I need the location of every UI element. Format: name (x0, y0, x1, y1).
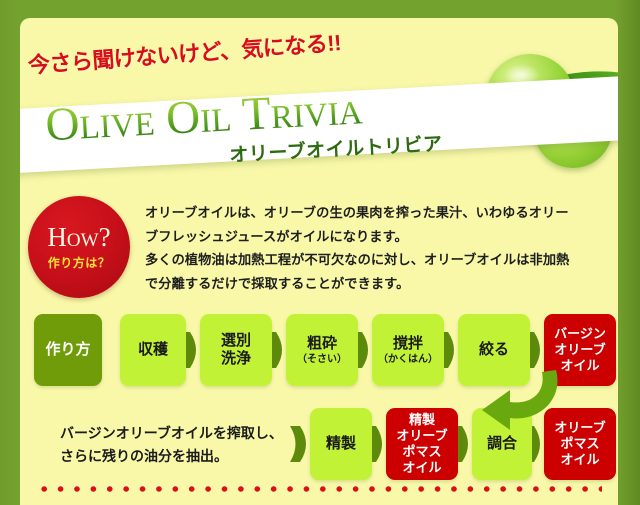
flow-node: 選別洗浄 (200, 314, 272, 386)
body-line: ブフレッシュジュースがオイルになります。 (145, 225, 615, 249)
flow-node-label: 精製オリーブポマスオイル (396, 412, 447, 475)
body-line: オリーブオイルは、オリーブの生の果肉を搾った果汁、いわゆるオリー (145, 201, 615, 225)
body-line: で分離するだけで採取することができます。 (145, 272, 615, 296)
flow-node-label: 撹拌 (393, 335, 423, 353)
tagline: 今さら聞けないけど、気になる!! (27, 25, 342, 80)
flow-node: 精製 (310, 408, 372, 480)
infographic-page: 今さら聞けないけど、気になる!! Olive Oil Trivia オリーブオイ… (0, 0, 640, 505)
flow-node: 粗砕（そさい） (286, 314, 358, 386)
body-line: 多くの植物油は加熱工程が不可欠なのに対し、オリーブオイルは非加熱 (145, 248, 615, 272)
flow-row-header-label: 作り方 (45, 341, 90, 359)
dotted-divider (36, 485, 602, 493)
flow-node: 撹拌（かくはん） (372, 314, 444, 386)
flow-node-label: 選別洗浄 (221, 332, 251, 367)
flow-node: 収穫 (120, 314, 186, 386)
flow-node-ruby: （かくはん） (378, 354, 438, 365)
flow-node-label: 精製 (326, 435, 356, 453)
how-badge-label-ja: 作り方は？ (48, 254, 111, 271)
flow-row-header: 作り方 (34, 314, 102, 386)
flow-node-label: 収穫 (138, 341, 168, 359)
curved-connector-arrow-icon (452, 366, 572, 436)
flow-node-ruby: （そさい） (297, 354, 347, 365)
body-paragraph: オリーブオイルは、オリーブの生の果肉を搾った果汁、いわゆるオリーブフレッシュジュ… (145, 201, 615, 295)
how-badge: How? 作り方は？ (28, 196, 130, 298)
how-badge-label-en: How? (47, 224, 110, 251)
flow-node-label: 粗砕 (307, 335, 337, 353)
cream-panel: 今さら聞けないけど、気になる!! Olive Oil Trivia オリーブオイ… (20, 18, 618, 505)
flow-arrow-icon (290, 426, 312, 462)
header-banner: 今さら聞けないけど、気になる!! Olive Oil Trivia オリーブオイ… (20, 18, 618, 183)
flow-node-label: 調合 (487, 435, 517, 453)
flow-node: 精製オリーブポマスオイル (386, 408, 458, 480)
flow-node-label: 絞る (479, 341, 509, 359)
